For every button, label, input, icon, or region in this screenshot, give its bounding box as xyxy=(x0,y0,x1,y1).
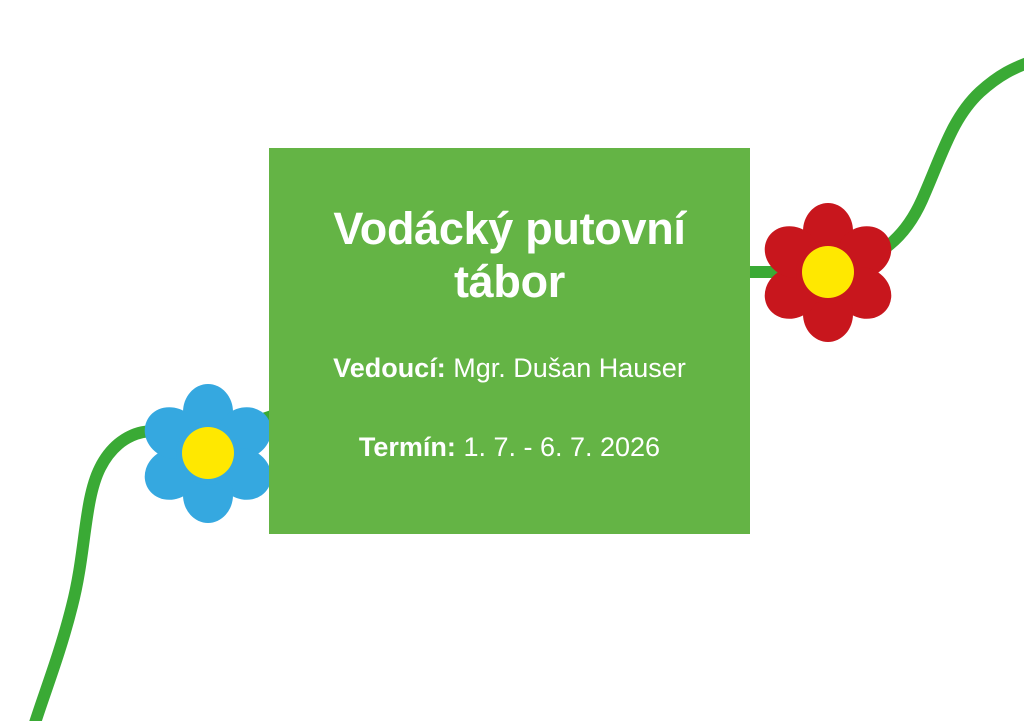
term-line: Termín: 1. 7. - 6. 7. 2026 xyxy=(359,429,660,465)
leader-value: Mgr. Dušan Hauser xyxy=(453,353,686,383)
page-title-line-1: Vodácký putovní xyxy=(333,203,685,254)
poster-canvas: Vodácký putovní tábor Vedoucí: Mgr. Duša… xyxy=(0,0,1024,721)
leader-label: Vedoucí: xyxy=(333,353,446,383)
page-title: Vodácký putovní tábor xyxy=(269,202,750,308)
term-value: 1. 7. - 6. 7. 2026 xyxy=(463,432,660,462)
term-label: Termín: xyxy=(359,432,456,462)
page-title-line-2: tábor xyxy=(454,256,565,307)
blue-flower xyxy=(135,384,280,523)
red-flower-center xyxy=(802,246,854,298)
leader-line: Vedoucí: Mgr. Dušan Hauser xyxy=(333,350,686,386)
info-lines: Vedoucí: Mgr. Dušan Hauser Termín: 1. 7.… xyxy=(269,350,750,465)
blue-flower-center xyxy=(182,427,234,479)
info-card: Vodácký putovní tábor Vedoucí: Mgr. Duša… xyxy=(269,148,750,534)
